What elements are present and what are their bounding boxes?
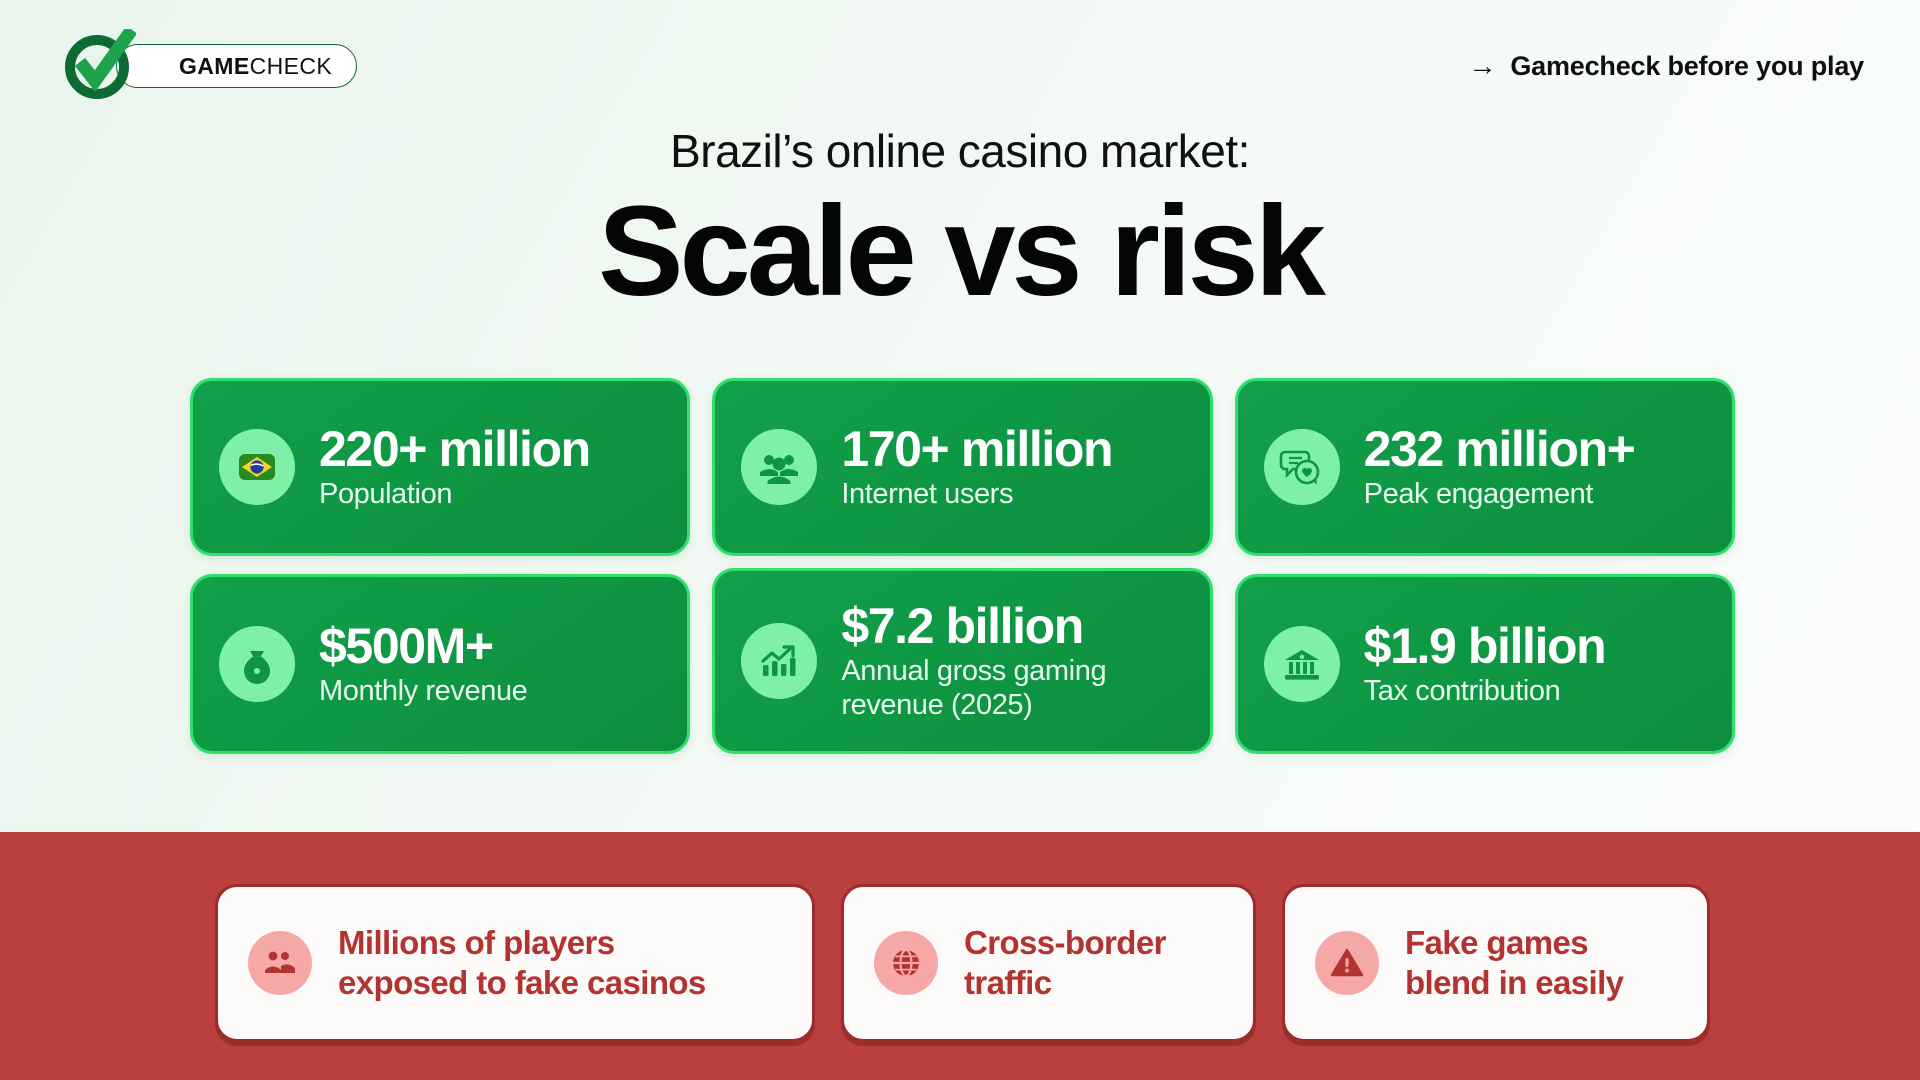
stat-card-tax-contribution: $1.9 billion Tax contribution [1235,574,1735,754]
stat-label: Tax contribution [1364,675,1606,709]
stats-grid: 220+ million Population 170+ million Int… [190,378,1735,754]
gamecheck-logo[interactable]: GAMECHECK [62,29,357,103]
stat-label: Internet users [841,478,1112,512]
title-kicker: Brazil’s online casino market: [0,126,1920,177]
risk-cards-row: Millions of players exposed to fake casi… [215,884,1710,1042]
logo-wordmark-pill: GAMECHECK [116,44,357,88]
globe-icon [874,931,938,995]
risk-card-cross-border-traffic: Cross-border traffic [841,884,1256,1042]
risk-label: Millions of players exposed to fake casi… [338,923,706,1004]
group-people-icon [741,429,817,505]
stat-value: $500M+ [319,619,527,673]
stat-label: Population [319,478,590,512]
stat-value: 170+ million [841,422,1112,476]
stat-card-population: 220+ million Population [190,378,690,556]
stat-label: Monthly revenue [319,675,527,709]
stat-value: $7.2 billion [841,599,1183,653]
stat-value: 232 million+ [1364,422,1635,476]
logo-word-light: CHECK [250,53,333,79]
growth-chart-icon [741,623,817,699]
check-circle-icon [62,29,136,103]
arrow-right-icon: → [1469,52,1497,80]
stat-card-peak-engagement: 232 million+ Peak engagement [1235,378,1735,556]
header: GAMECHECK → Gamecheck before you play [0,0,1920,132]
money-bag-icon [219,626,295,702]
bank-icon [1264,626,1340,702]
risk-card-fake-casinos: Millions of players exposed to fake casi… [215,884,815,1042]
infographic-page: GAMECHECK → Gamecheck before you play Br… [0,0,1920,1080]
risk-label: Cross-border traffic [964,923,1166,1004]
stat-card-gross-gaming-revenue: $7.2 billion Annual gross gaming revenue… [712,568,1212,754]
stat-label: Peak engagement [1364,478,1635,512]
cta-label: Gamecheck before you play [1510,51,1864,82]
stat-value: $1.9 billion [1364,619,1606,673]
risk-label: Fake games blend in easily [1405,923,1623,1004]
stat-value: 220+ million [319,422,590,476]
people-icon [248,931,312,995]
risk-card-fake-games: Fake games blend in easily [1282,884,1710,1042]
stat-card-internet-users: 170+ million Internet users [712,378,1212,556]
page-title: Scale vs risk [0,183,1920,321]
chat-heart-icon [1264,429,1340,505]
title-block: Brazil’s online casino market: Scale vs … [0,126,1920,321]
stat-card-monthly-revenue: $500M+ Monthly revenue [190,574,690,754]
warning-triangle-icon [1315,931,1379,995]
brazil-flag-icon [219,429,295,505]
risk-band: Millions of players exposed to fake casi… [0,832,1920,1080]
logo-word-bold: GAME [179,53,250,79]
cta-gamecheck-before-you-play[interactable]: → Gamecheck before you play [1469,51,1864,82]
stat-label: Annual gross gaming revenue (2025) [841,655,1183,722]
